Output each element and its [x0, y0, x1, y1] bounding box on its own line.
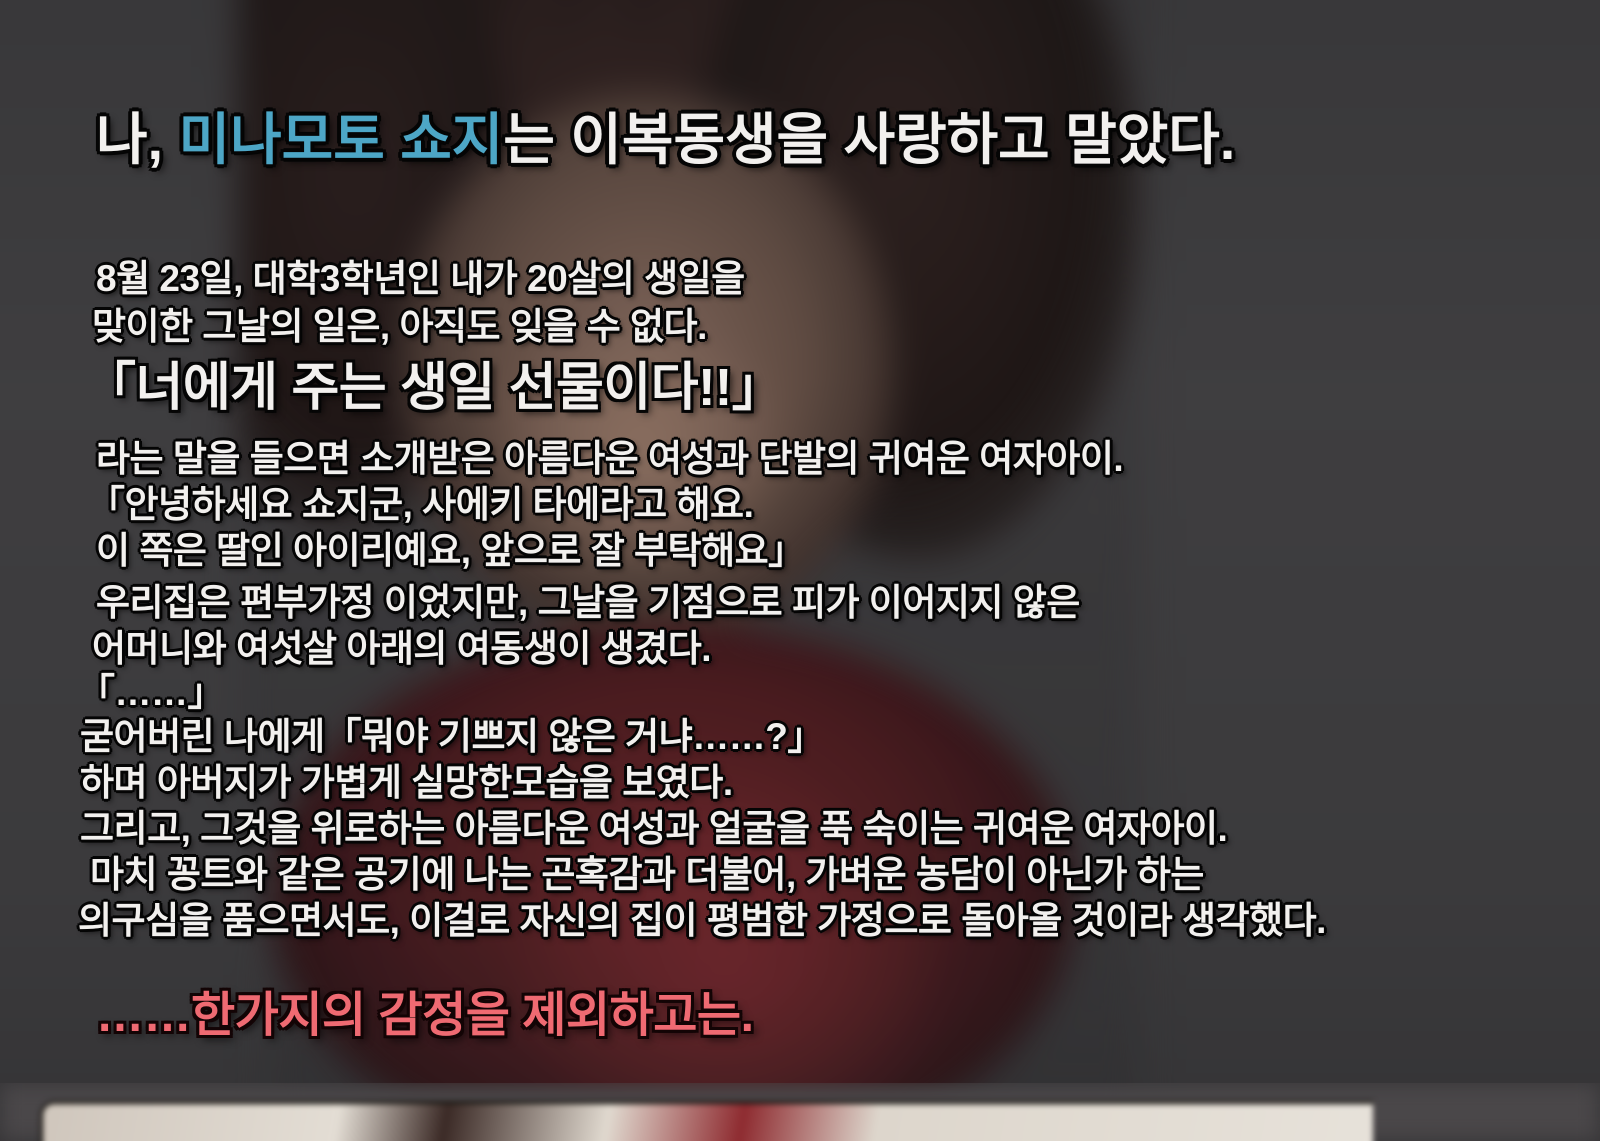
narration-line: 맞이한 그날의 일은, 아직도 잊을 수 없다. — [92, 296, 707, 350]
narration-line: 이 쪽은 딸인 아이리예요, 앞으로 잘 부탁해요」 — [96, 520, 805, 574]
narration-line: 8월 23일, 대학3학년인 내가 20살의 생일을 — [96, 248, 745, 302]
title-part-2: 는 이복동생을 사랑하고 말았다. — [503, 108, 1235, 171]
manga-narration-panel: 나, 미나모토 쇼지는 이복동생을 사랑하고 말았다. 8월 23일, 대학3학… — [0, 0, 1600, 1141]
narration-text-layer: 나, 미나모토 쇼지는 이복동생을 사랑하고 말았다. 8월 23일, 대학3학… — [0, 0, 1600, 1141]
narration-line: 의구심을 품으면서도, 이걸로 자신의 집이 평범한 가정으로 돌아올 것이라 … — [78, 890, 1326, 944]
title-part-1: 나, — [96, 108, 179, 171]
narration-line-emphasis-pink: ……한가지의 감정을 제외하고는. — [96, 975, 753, 1045]
page-title: 나, 미나모토 쇼지는 이복동생을 사랑하고 말았다. — [96, 95, 1235, 176]
narration-line-emphasis: 「너에게 주는 생일 선물이다!!」 — [84, 345, 783, 420]
next-panel-edge — [0, 1083, 1600, 1141]
next-panel-artwork — [40, 1101, 1373, 1141]
title-character-name: 미나모토 쇼지 — [179, 108, 504, 171]
